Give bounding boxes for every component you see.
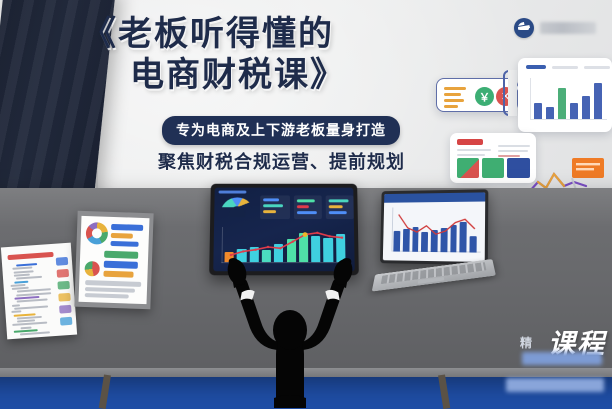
check-circle-icon: ￥	[475, 87, 494, 106]
report-block	[110, 241, 138, 247]
doc-text-row	[14, 280, 28, 283]
side-card-bar	[534, 103, 542, 119]
laptop-device	[372, 190, 494, 302]
course-prefix: 精	[520, 334, 532, 351]
footer-redacted-2	[506, 378, 604, 392]
card-title-bar	[526, 65, 546, 69]
side-card-bar	[546, 107, 554, 119]
doc-color-chip	[57, 269, 70, 278]
report-block	[103, 271, 133, 278]
doc-color-chip	[58, 293, 71, 302]
report-paper-right	[79, 216, 150, 304]
doc-panel-2	[482, 158, 504, 178]
clipboard-panel	[74, 211, 153, 310]
doc-text-row	[17, 299, 48, 303]
title-line-1: 《老板听得懂的	[78, 14, 458, 54]
brand-name-redacted	[540, 22, 596, 34]
doc-text-row	[14, 270, 34, 273]
laptop-lid	[380, 189, 488, 265]
s-logo-icon	[514, 18, 534, 38]
ticket-text-lines	[444, 87, 466, 108]
headline: 《老板听得懂的 电商财税课》	[78, 14, 458, 96]
side-card-bar	[570, 103, 578, 119]
doc-panel-3	[507, 158, 530, 178]
banner-image: 《老板听得懂的 电商财税课》 专为电商及上下游老板量身打造 聚焦财税合规运营、提…	[0, 0, 612, 409]
report-block	[111, 233, 133, 239]
side-card-bar	[558, 88, 566, 119]
doc-header-bar	[7, 252, 53, 260]
doc-text-row	[16, 263, 37, 266]
doc-panel-1	[457, 158, 479, 178]
report-block	[104, 251, 138, 259]
card-subtitle-bar	[552, 66, 578, 69]
report-block	[85, 287, 135, 293]
title-line-2: 电商财税课》	[78, 54, 458, 96]
person-silhouette	[214, 258, 366, 409]
side-chart-plot	[530, 78, 607, 120]
side-bar-chart-card	[518, 58, 612, 132]
document-card	[450, 133, 536, 183]
dashboard-title-bar	[219, 191, 247, 194]
doc-color-chip	[57, 281, 70, 290]
doc-color-chip	[60, 317, 73, 326]
report-donut-chart	[86, 222, 109, 245]
report-block	[104, 261, 138, 269]
report-block	[85, 280, 141, 287]
report-block	[111, 224, 143, 231]
card-header	[526, 65, 610, 69]
brand-logo	[514, 18, 596, 38]
side-card-bar	[594, 83, 602, 119]
laptop-trend-line	[391, 207, 481, 253]
side-card-bar	[582, 96, 590, 119]
report-block	[85, 293, 129, 299]
footer-redacted-1	[522, 352, 602, 365]
report-paper-left	[1, 243, 77, 340]
doc-color-chip	[59, 305, 72, 314]
report-pie-chart	[84, 261, 100, 277]
doc-text-row	[20, 332, 50, 336]
laptop-app-header	[384, 192, 485, 202]
doc-text-row	[12, 304, 20, 307]
subtitle-pill: 专为电商及上下游老板量身打造	[162, 116, 400, 145]
doc-text-row	[11, 310, 21, 313]
doc-color-chip	[56, 257, 69, 266]
bracket-icon	[503, 70, 516, 116]
doc-text-row	[16, 276, 42, 280]
subtitle-plain: 聚焦财税合规运营、提前规划	[158, 148, 405, 174]
doc-red-header	[457, 139, 483, 145]
dashboard-gauge	[220, 197, 254, 217]
laptop-bar-chart	[391, 207, 481, 253]
card-subtitle-bar-2	[584, 66, 610, 69]
doc-text-row	[20, 326, 31, 329]
laptop-screen	[383, 192, 485, 262]
